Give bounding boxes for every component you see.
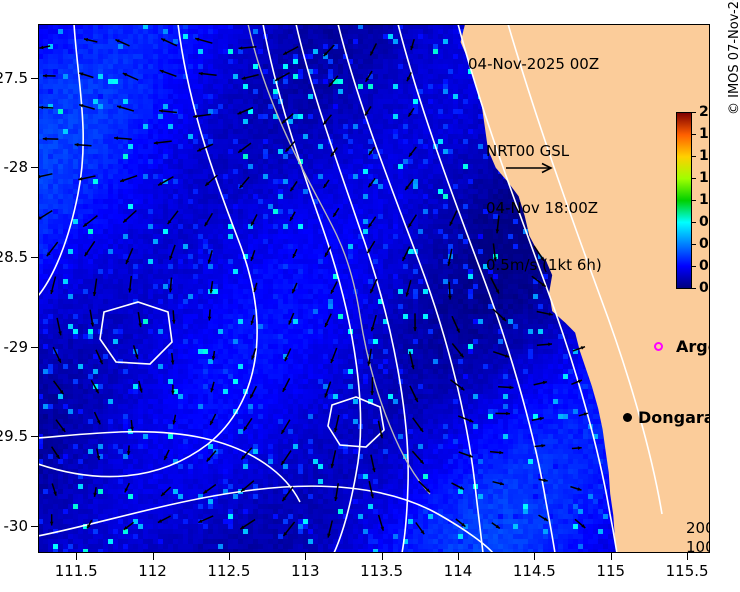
current-vector <box>208 250 213 263</box>
current-vector <box>158 516 171 523</box>
current-vector <box>50 514 54 525</box>
current-vector <box>43 74 56 78</box>
current-vector <box>492 523 500 529</box>
current-vector <box>85 241 95 256</box>
current-vector <box>240 177 250 188</box>
current-vector <box>114 136 132 140</box>
current-vector <box>331 450 336 468</box>
current-vector <box>95 412 101 424</box>
current-vector <box>75 143 92 147</box>
current-vector <box>331 348 337 363</box>
depth-200m-label: 200m <box>686 519 710 538</box>
y-tick-label: -28 <box>4 158 29 176</box>
colorbar-tick-label: 0.5 <box>699 236 710 252</box>
current-vector <box>210 281 214 293</box>
argo-marker-icon <box>654 342 663 351</box>
x-tick <box>153 553 154 560</box>
current-vector <box>493 482 504 486</box>
current-vector <box>413 313 417 331</box>
current-vector <box>130 420 134 431</box>
current-vector <box>289 313 294 325</box>
current-vector <box>160 70 177 76</box>
x-tick <box>229 553 230 560</box>
current-vector <box>407 72 411 81</box>
current-vector <box>450 211 457 226</box>
current-vector <box>251 214 257 225</box>
colorbar: 21.751.51.2510.750.50.250 <box>676 112 692 289</box>
current-vector <box>47 242 58 256</box>
current-vector <box>96 350 103 364</box>
current-vector <box>275 73 290 81</box>
argo-legend-label: Argo <box>676 337 710 356</box>
current-vector <box>158 177 173 186</box>
current-vector <box>117 105 134 111</box>
colorbar-tick-label: 1 <box>699 192 709 208</box>
current-vector <box>50 277 55 295</box>
current-vector <box>79 104 95 109</box>
current-vector <box>97 449 101 460</box>
current-vector <box>38 174 52 179</box>
current-vector <box>238 143 251 153</box>
current-vector <box>195 38 212 44</box>
current-vector <box>412 451 423 464</box>
current-vector <box>93 487 97 497</box>
current-vector <box>458 416 473 422</box>
current-vector <box>173 415 177 425</box>
current-vector <box>331 282 337 294</box>
current-vector <box>283 378 290 391</box>
current-vector <box>238 108 254 115</box>
current-vector <box>539 479 548 483</box>
current-vector <box>128 276 132 293</box>
current-vector <box>242 75 259 80</box>
current-vector <box>43 137 59 141</box>
colorbar-tick-label: 0 <box>699 280 709 296</box>
current-vector <box>240 520 255 530</box>
current-vector <box>408 108 414 117</box>
y-tick-label: -27.5 <box>0 69 28 87</box>
colorbar-tick <box>692 156 696 157</box>
x-tick-label: 114.5 <box>513 562 556 580</box>
current-vector <box>161 487 171 496</box>
y-tick <box>31 257 38 258</box>
current-vector <box>283 47 298 55</box>
credit-text: © IMOS 07-Nov-2025 14:52 Hobart; Tscale=… <box>727 0 740 115</box>
current-vector <box>371 455 376 472</box>
current-vector <box>408 215 416 228</box>
x-tick <box>534 553 535 560</box>
current-vector <box>413 418 423 432</box>
colorbar-tick <box>692 222 696 223</box>
current-vector <box>570 487 581 491</box>
current-vector <box>123 73 138 80</box>
current-vector <box>325 314 331 327</box>
current-vector <box>323 115 331 125</box>
y-tick <box>31 167 38 168</box>
current-vector <box>83 216 97 227</box>
product-time: 04-Nov 18:00Z <box>486 199 602 218</box>
current-vector <box>250 386 256 398</box>
x-tick <box>611 553 612 560</box>
current-vector <box>579 413 588 417</box>
current-vector <box>84 38 97 42</box>
current-vector <box>368 178 375 187</box>
current-vector <box>210 382 214 392</box>
current-vector <box>370 279 377 293</box>
surface-current-vectors <box>38 24 710 553</box>
current-vector <box>56 420 65 432</box>
current-vector <box>87 520 92 528</box>
current-vector <box>254 283 258 292</box>
colorbar-tick-label: 1.5 <box>699 148 710 164</box>
y-tick <box>31 436 38 437</box>
y-tick-label: -29 <box>4 338 29 356</box>
x-tick <box>76 553 77 560</box>
current-vector <box>456 519 466 527</box>
current-vector <box>139 381 143 393</box>
current-vector <box>367 241 374 253</box>
x-tick-label: 114 <box>444 562 473 580</box>
colorbar-tick-label: 1.25 <box>699 170 710 186</box>
current-vector <box>575 519 585 528</box>
current-vector <box>369 147 375 155</box>
current-vector <box>452 483 465 490</box>
current-vector <box>171 353 175 365</box>
current-vector <box>197 144 213 151</box>
current-vector <box>379 515 384 531</box>
current-vector <box>205 213 213 226</box>
current-vector <box>452 344 463 358</box>
x-tick-label: 113.5 <box>360 562 403 580</box>
colorbar-gradient <box>676 112 692 289</box>
current-vector <box>205 175 217 186</box>
current-vector <box>571 380 582 385</box>
current-vector <box>39 106 53 110</box>
current-vector <box>333 208 339 217</box>
current-vector <box>403 247 410 261</box>
current-vector <box>154 141 172 145</box>
current-vector <box>535 444 546 448</box>
x-tick-label: 113 <box>291 562 320 580</box>
y-tick <box>31 78 38 79</box>
current-vector <box>573 346 585 351</box>
current-vector <box>334 483 338 501</box>
current-vector <box>241 448 252 460</box>
x-tick-label: 112.5 <box>207 562 250 580</box>
colorbar-tick-label: 2 <box>699 104 709 120</box>
current-vector <box>52 484 57 496</box>
current-vector <box>125 483 130 492</box>
current-vector <box>405 179 413 190</box>
current-vector <box>244 418 252 430</box>
current-vector <box>416 523 424 535</box>
current-vector <box>134 345 139 359</box>
current-vector <box>169 278 173 293</box>
current-vector <box>159 109 177 113</box>
argo-legend-entry: Argo <box>654 337 710 356</box>
current-vector <box>495 412 510 416</box>
current-vector <box>539 515 548 521</box>
product-name: NRT00 GSL <box>486 142 602 161</box>
current-vector <box>161 39 177 46</box>
current-vector <box>93 279 97 296</box>
current-vector <box>281 451 291 465</box>
current-vector <box>369 481 374 498</box>
current-vector <box>164 450 169 460</box>
current-vector <box>124 522 134 529</box>
x-tick-label: 112 <box>138 562 167 580</box>
colorbar-tick <box>692 112 696 113</box>
dongara-place-marker: Dongara <box>623 408 710 427</box>
current-vector <box>459 452 473 458</box>
x-tick <box>305 553 306 560</box>
current-vector <box>490 451 503 455</box>
x-tick-label: 115.5 <box>666 562 709 580</box>
current-vector <box>365 106 371 115</box>
current-vector <box>368 217 375 228</box>
current-vector <box>448 282 452 300</box>
current-vector <box>493 352 509 358</box>
current-vector <box>123 211 136 223</box>
current-vector <box>115 40 129 46</box>
current-vector <box>168 211 178 224</box>
current-vector <box>286 141 295 151</box>
current-vector <box>419 481 430 492</box>
current-vector <box>127 445 131 455</box>
current-vector <box>198 516 213 523</box>
current-vector <box>409 147 416 157</box>
current-vector <box>251 348 255 359</box>
current-vector <box>378 421 383 439</box>
current-vector <box>406 280 411 296</box>
current-vector <box>78 176 95 181</box>
colorbar-tick <box>692 288 696 289</box>
current-vector <box>53 347 61 363</box>
date-stamp: 04-Nov-2025 00Z <box>468 55 599 73</box>
current-vector <box>325 382 331 398</box>
y-tick <box>31 347 38 348</box>
current-vector <box>239 46 257 50</box>
colorbar-tick-label: 0.25 <box>699 258 710 274</box>
y-tick <box>31 526 38 527</box>
current-vector <box>90 310 94 327</box>
y-tick-label: -29.5 <box>0 427 28 445</box>
current-vector <box>324 180 330 188</box>
current-vector <box>208 309 212 320</box>
current-vector <box>199 72 217 76</box>
product-annotation: NRT00 GSL 04-Nov 18:00Z 0.5m/s (1kt 6h) <box>486 104 602 313</box>
colorbar-tick <box>692 244 696 245</box>
current-vector <box>54 381 64 394</box>
map-plot-area[interactable]: 04-Nov-2025 00Z NRT00 GSL 04-Nov 18:00Z … <box>38 24 710 553</box>
current-vector <box>284 522 295 536</box>
vector-scale-label: 0.5m/s (1kt 6h) <box>486 256 602 275</box>
current-vector <box>212 351 216 360</box>
y-tick-label: -30 <box>4 517 29 535</box>
current-vector <box>79 72 93 77</box>
current-vector <box>251 315 255 325</box>
current-vector <box>451 380 465 391</box>
current-vector <box>126 248 133 264</box>
current-vector <box>293 249 297 258</box>
current-vector <box>447 249 451 266</box>
colorbar-tick <box>692 200 696 201</box>
current-vector <box>537 343 552 347</box>
current-vector <box>282 114 293 124</box>
x-tick <box>687 553 688 560</box>
current-vector <box>572 446 582 450</box>
current-vector <box>169 245 175 260</box>
x-tick <box>458 553 459 560</box>
current-vector <box>329 76 338 87</box>
right-arrow-icon <box>504 160 564 174</box>
current-vector <box>327 521 332 538</box>
current-vector <box>410 352 415 370</box>
current-vector <box>138 312 142 327</box>
current-vector <box>325 247 331 257</box>
current-vector <box>282 487 293 501</box>
current-vector <box>57 318 62 335</box>
current-vector <box>367 349 371 366</box>
current-vector <box>38 211 52 220</box>
current-vector <box>371 315 376 331</box>
colorbar-tick <box>692 266 696 267</box>
current-vector <box>193 114 211 118</box>
figure-canvas: 04-Nov-2025 00Z NRT00 GSL 04-Nov 18:00Z … <box>0 0 740 592</box>
current-vector <box>290 181 297 191</box>
current-vector <box>452 316 460 332</box>
current-vector <box>39 46 50 50</box>
current-vector <box>334 415 339 432</box>
current-vector <box>281 420 290 434</box>
colorbar-tick-label: 1.75 <box>699 126 710 142</box>
bathymetry-legend: 200m 1000m <box>686 519 710 553</box>
current-vector <box>290 212 295 221</box>
current-vector <box>498 386 513 390</box>
current-vector <box>210 414 215 425</box>
current-vector <box>251 250 255 261</box>
current-vector <box>324 45 335 56</box>
current-vector <box>172 310 176 323</box>
current-vector <box>532 417 544 421</box>
current-vector <box>207 451 216 462</box>
dongara-label: Dongara <box>638 408 710 427</box>
colorbar-tick <box>692 134 696 135</box>
current-vector <box>410 39 414 50</box>
current-vector <box>331 148 338 157</box>
current-vector <box>534 381 547 385</box>
current-vector <box>120 176 137 182</box>
current-vector <box>370 43 376 55</box>
current-vector <box>91 380 98 393</box>
current-vector <box>52 447 60 459</box>
depth-1000m-label: 1000m <box>686 538 710 553</box>
current-vector <box>285 349 291 362</box>
current-vector <box>241 481 254 492</box>
current-vector <box>171 385 175 395</box>
current-vector <box>203 485 216 494</box>
current-vector <box>370 377 374 395</box>
x-tick-label: 111.5 <box>55 562 98 580</box>
city-dot-icon <box>623 413 632 422</box>
y-tick-label: -28.5 <box>0 248 28 266</box>
colorbar-tick <box>692 178 696 179</box>
x-tick <box>382 553 383 560</box>
colorbar-tick-label: 0.75 <box>699 214 710 230</box>
current-vector <box>366 71 372 82</box>
current-vector <box>410 386 418 402</box>
current-vector <box>292 283 297 293</box>
x-tick-label: 115 <box>596 562 625 580</box>
